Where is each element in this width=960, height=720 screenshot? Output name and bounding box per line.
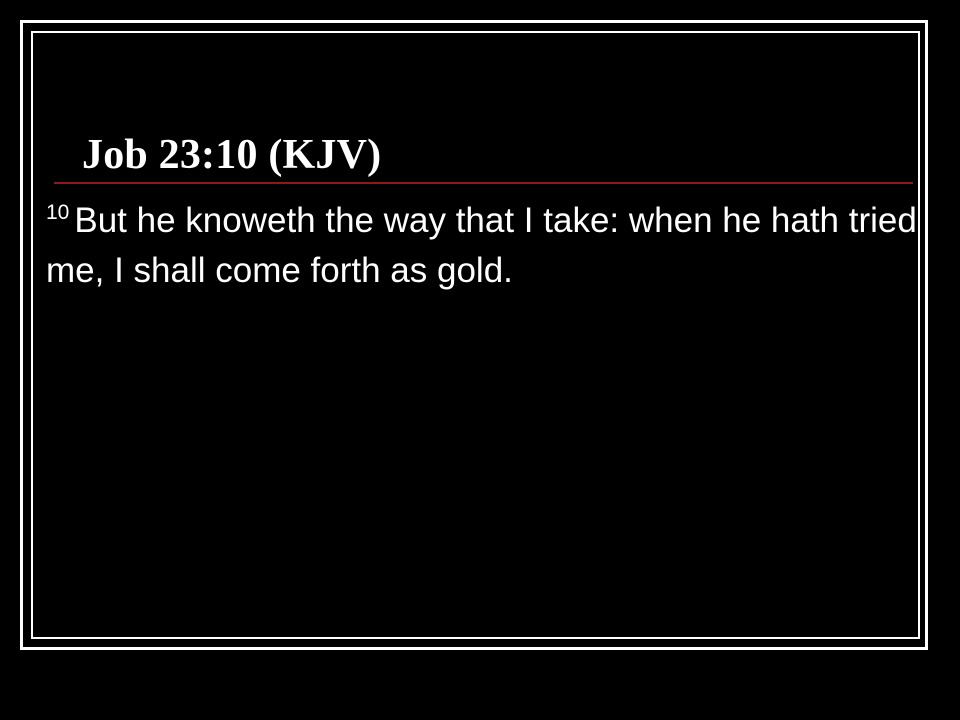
verse-number: 10	[46, 201, 69, 224]
scripture-body-text: 10But he knoweth the way that I take: wh…	[46, 196, 918, 296]
slide-content-area: Job 23:10 (KJV) 10But he knoweth the way…	[33, 33, 918, 637]
title-divider-rule	[54, 182, 913, 184]
scripture-slide: Job 23:10 (KJV) 10But he knoweth the way…	[0, 0, 960, 720]
verse-text: But he knoweth the way that I take: when…	[46, 201, 917, 290]
page-title: Job 23:10 (KJV)	[82, 132, 381, 178]
